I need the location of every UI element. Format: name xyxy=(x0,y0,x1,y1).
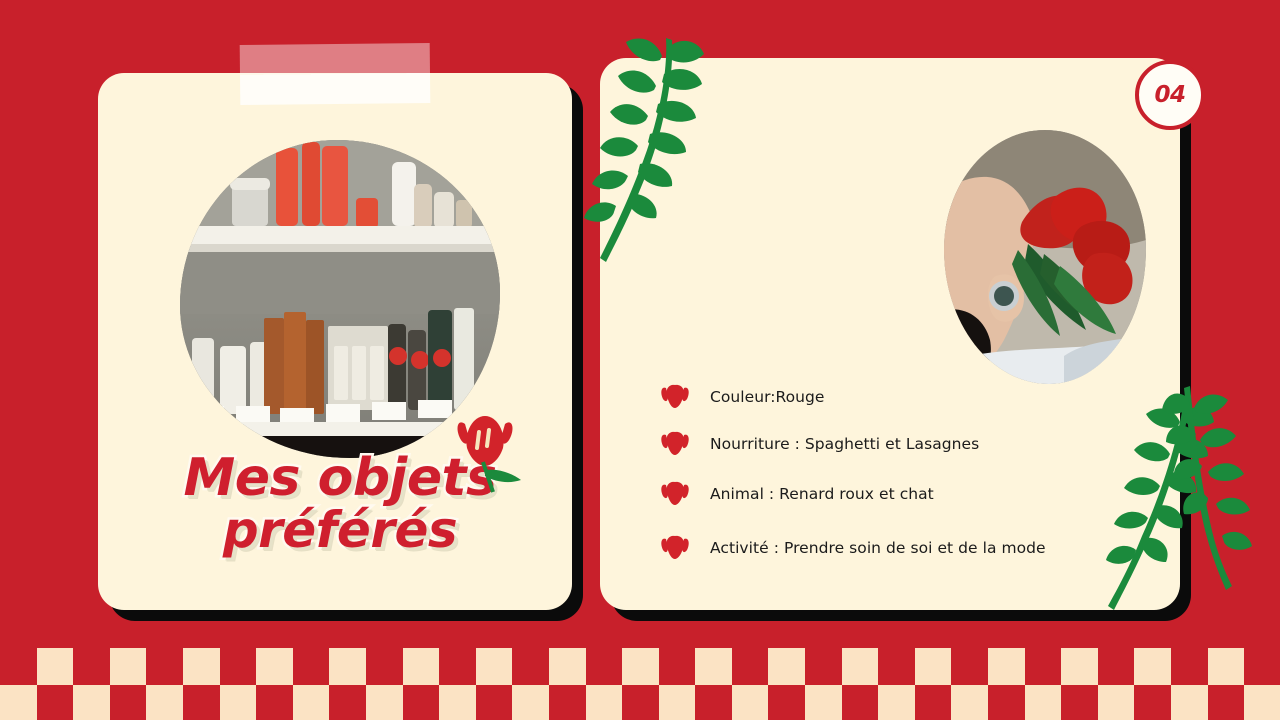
checker-cell xyxy=(549,648,586,685)
checker-cell xyxy=(1098,648,1135,685)
checker-cell xyxy=(146,648,183,685)
checker-cell xyxy=(951,648,988,685)
checker-cell xyxy=(622,685,659,720)
list-item-label: Activité : Prendre soin de soi et de la … xyxy=(710,539,1046,557)
list-item-label: Couleur:Rouge xyxy=(710,388,825,406)
list-item-label: Nourriture : Spaghetti et Lasagnes xyxy=(710,435,979,453)
checker-cell xyxy=(1098,685,1135,720)
checker-cell xyxy=(1208,685,1245,720)
checker-cell xyxy=(951,685,988,720)
tulip-bullet-icon xyxy=(658,533,692,563)
checker-cell xyxy=(439,648,476,685)
checker-cell xyxy=(1208,648,1245,685)
checker-cell xyxy=(1061,648,1098,685)
checker-cell xyxy=(329,685,366,720)
checker-cell xyxy=(659,685,696,720)
tulip-icon xyxy=(447,396,523,500)
checker-cell xyxy=(768,648,805,685)
checker-cell xyxy=(988,648,1025,685)
checker-cell xyxy=(183,685,220,720)
checker-cell xyxy=(1061,685,1098,720)
checker-cell xyxy=(842,648,879,685)
checker-cell xyxy=(293,685,330,720)
checker-cell xyxy=(1134,648,1171,685)
checker-cell xyxy=(403,648,440,685)
checker-cell xyxy=(805,685,842,720)
checker-cell xyxy=(659,648,696,685)
checker-cell xyxy=(878,685,915,720)
checkerboard-row-bottom xyxy=(0,685,1280,720)
checkerboard-row-top xyxy=(0,648,1280,685)
checker-cell xyxy=(256,648,293,685)
checker-cell xyxy=(695,685,732,720)
page-number-badge: 04 xyxy=(1135,60,1205,130)
checker-cell xyxy=(146,685,183,720)
checker-cell xyxy=(0,648,37,685)
checker-cell xyxy=(622,648,659,685)
fern-branch-icon xyxy=(1160,386,1264,592)
checker-cell xyxy=(476,685,513,720)
checker-cell xyxy=(842,685,879,720)
list-item[interactable]: Activité : Prendre soin de soi et de la … xyxy=(658,523,1128,573)
checker-cell xyxy=(915,685,952,720)
checker-cell xyxy=(110,648,147,685)
checker-cell xyxy=(403,685,440,720)
checker-cell xyxy=(366,685,403,720)
checker-cell xyxy=(73,685,110,720)
tulip-bullet-icon xyxy=(658,479,692,509)
checker-cell xyxy=(183,648,220,685)
checker-cell xyxy=(549,685,586,720)
checker-cell xyxy=(878,648,915,685)
checker-cell xyxy=(329,648,366,685)
checker-cell xyxy=(366,648,403,685)
checker-cell xyxy=(768,685,805,720)
washi-tape xyxy=(240,43,431,105)
list-item[interactable]: Animal : Renard roux et chat xyxy=(658,469,1128,519)
checker-cell xyxy=(915,648,952,685)
checker-cell xyxy=(512,648,549,685)
checker-cell xyxy=(439,685,476,720)
checker-cell xyxy=(1134,685,1171,720)
checker-cell xyxy=(1244,685,1280,720)
checker-cell xyxy=(586,685,623,720)
checker-cell xyxy=(1244,648,1280,685)
checker-cell xyxy=(1025,648,1062,685)
checker-cell xyxy=(110,685,147,720)
list-item[interactable]: Nourriture : Spaghetti et Lasagnes xyxy=(658,419,1128,469)
list-item-label: Animal : Renard roux et chat xyxy=(710,485,934,503)
checker-cell xyxy=(732,648,769,685)
checker-cell xyxy=(805,648,842,685)
checker-cell xyxy=(37,648,74,685)
checker-cell xyxy=(1025,685,1062,720)
checker-cell xyxy=(988,685,1025,720)
checker-cell xyxy=(293,648,330,685)
checker-cell xyxy=(220,648,257,685)
tulip-bullet-icon xyxy=(658,429,692,459)
checker-cell xyxy=(586,648,623,685)
checker-cell xyxy=(0,685,37,720)
checker-cell xyxy=(732,685,769,720)
checker-cell xyxy=(37,685,74,720)
slide-canvas: Mes objets préférés xyxy=(0,0,1280,720)
checker-cell xyxy=(512,685,549,720)
checker-cell xyxy=(220,685,257,720)
list-item[interactable]: Couleur:Rouge xyxy=(658,372,1128,422)
checker-cell xyxy=(695,648,732,685)
checker-cell xyxy=(1171,685,1208,720)
checker-cell xyxy=(73,648,110,685)
favorites-list: Couleur:Rouge Nourriture : Spaghetti et … xyxy=(658,372,1128,573)
checker-cell xyxy=(1171,648,1208,685)
checker-cell xyxy=(256,685,293,720)
page-number-label: 04 xyxy=(1154,82,1185,108)
tulip-bullet-icon xyxy=(658,382,692,412)
checker-cell xyxy=(476,648,513,685)
fern-branch-icon xyxy=(580,34,710,266)
